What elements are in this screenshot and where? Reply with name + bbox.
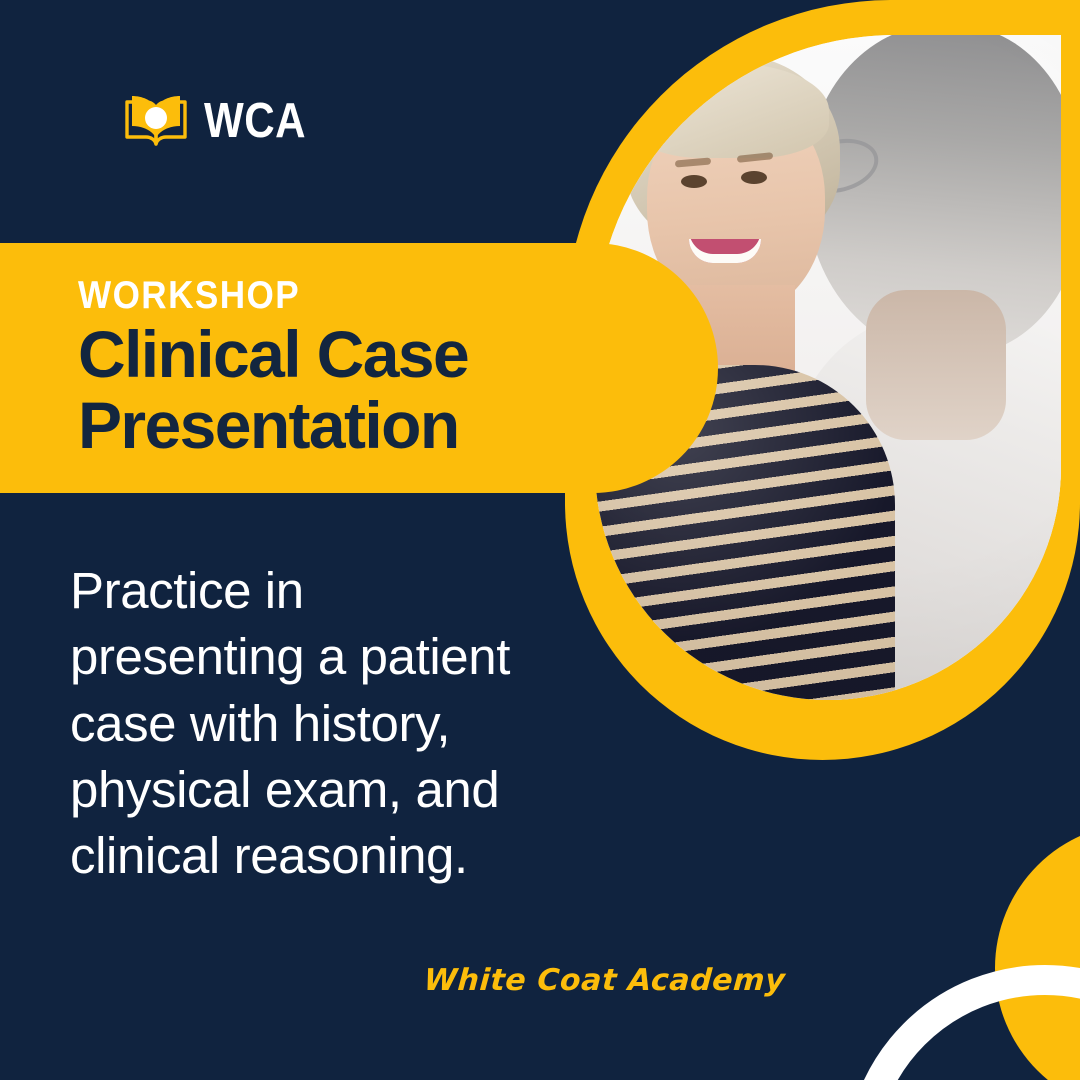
description-text: Practice in presenting a patient case wi… [70, 558, 540, 889]
title-line-2: Presentation [78, 388, 459, 462]
poster-canvas: WCA WORKSHOP Clinical Case Presentation … [0, 0, 1080, 1080]
title-line-1: Clinical Case [78, 317, 468, 391]
white-ring-decoration [845, 965, 1080, 1080]
brand-signature: White Coat Academy [423, 963, 787, 998]
page-title: Clinical Case Presentation [78, 319, 678, 460]
logo-text: WCA [204, 97, 306, 146]
logo[interactable]: WCA [124, 92, 323, 150]
open-book-icon [124, 92, 188, 150]
title-banner: WORKSHOP Clinical Case Presentation [0, 243, 718, 493]
eyebrow-label: WORKSHOP [78, 276, 654, 315]
